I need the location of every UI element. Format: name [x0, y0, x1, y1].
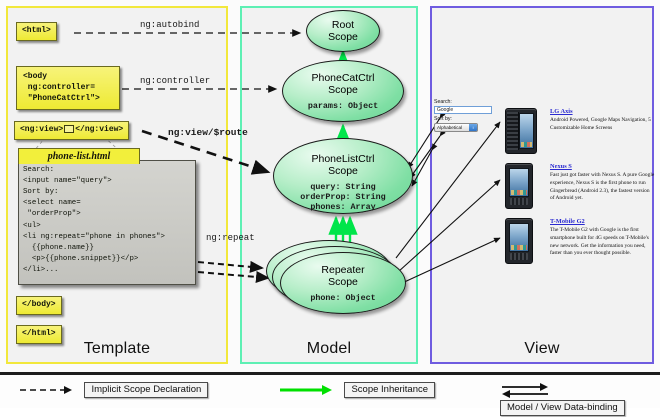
scope-repeater-props: phone: Object: [281, 293, 405, 303]
column-label-model: Model: [242, 340, 416, 358]
green-arrow-icon: [278, 383, 334, 397]
note-code: Search: <input name="query"> Sort by: <s…: [23, 165, 192, 276]
scope-repeater-title: Repeater Scope: [281, 264, 405, 288]
html-close-tag-box: </html>: [16, 325, 62, 344]
html-tag-box: <html>: [16, 22, 57, 41]
sort-label: Sort by:: [434, 116, 498, 122]
legend-item-data-binding: Model / View Data-binding: [500, 381, 660, 399]
phone-name-link[interactable]: Nexus S: [550, 163, 655, 170]
legend-item-implicit-scope: Implicit Scope Declaration: [18, 381, 208, 399]
phone-description: Android Powered, Google Maps Navigation,…: [550, 117, 655, 133]
column-label-view: View: [432, 340, 652, 358]
body-tag-box: <body ng:controller= "PhoneCatCtrl">: [16, 66, 120, 110]
scope-phonecatctrl-props: params: Object: [283, 101, 403, 111]
body-close-tag-box: </body>: [16, 296, 62, 315]
ngview-open-label: <ng:view>: [20, 125, 63, 134]
note-title: phone-list.html: [18, 148, 140, 164]
scope-phonelistctrl-title: PhoneListCtrl Scope: [274, 153, 412, 177]
phone-name-link[interactable]: T-Mobile G2: [550, 218, 655, 225]
phone-thumbnail-icon: [505, 218, 533, 264]
phone-name-link[interactable]: LG Axis: [550, 108, 655, 115]
scope-phonelistctrl: PhoneListCtrl Scope query: String orderP…: [273, 138, 413, 214]
legend-label-scope-inheritance: Scope Inheritance: [344, 382, 435, 398]
edge-label-repeat: ng:repeat: [206, 233, 255, 243]
phone-list-code-note: phone-list.html Search: <input name="que…: [18, 160, 196, 285]
ngview-close-label: </ng:view>: [75, 125, 123, 134]
phone-description: The T-Mobile G2 with Google is the first…: [550, 227, 655, 258]
sort-select-value: Alphabetical: [437, 125, 462, 130]
edge-label-route: ng:view/$route: [168, 127, 248, 138]
edge-label-controller: ng:controller: [140, 76, 210, 86]
legend-item-scope-inheritance: Scope Inheritance: [278, 381, 435, 399]
scope-phonecatctrl-title: PhoneCatCtrl Scope: [283, 72, 403, 96]
scope-repeater: Repeater Scope phone: Object: [280, 252, 406, 314]
phone-thumbnail-icon: [505, 108, 537, 154]
scope-phonecatctrl: PhoneCatCtrl Scope params: Object: [282, 60, 404, 122]
ngview-slot-icon: [64, 125, 74, 133]
phone-description: Fast just got faster with Nexus S. A pur…: [550, 172, 655, 203]
legend-label-implicit-scope: Implicit Scope Declaration: [84, 382, 208, 398]
legend-label-data-binding: Model / View Data-binding: [500, 400, 625, 416]
ngview-tag-box: <ng:view></ng:view>: [14, 121, 129, 140]
double-arrow-icon: [500, 382, 550, 398]
scope-root: Root Scope: [306, 10, 380, 52]
dashed-arrow-icon: [18, 383, 74, 397]
edge-label-autobind: ng:autobind: [140, 20, 199, 30]
legend: Implicit Scope Declaration Scope Inherit…: [0, 372, 660, 408]
diagram-canvas: Template Model View: [0, 0, 660, 405]
sort-select[interactable]: Alphabetical ↕: [434, 123, 478, 132]
scope-root-title: Root Scope: [307, 19, 379, 43]
chevron-updown-icon: ↕: [469, 124, 477, 131]
scope-phonelistctrl-props: query: String orderProp: String phones: …: [274, 182, 412, 212]
search-form: Search: Google Sort by: Alphabetical ↕: [434, 99, 498, 132]
search-label: Search:: [434, 99, 498, 105]
phone-thumbnail-icon: [505, 163, 533, 209]
search-input[interactable]: Google: [434, 106, 492, 114]
